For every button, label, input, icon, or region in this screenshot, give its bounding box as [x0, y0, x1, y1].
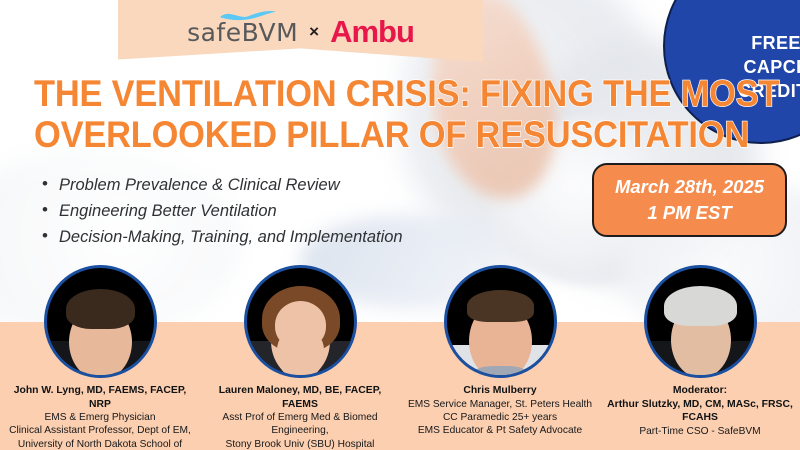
wave-icon: [219, 10, 277, 21]
speaker-bio-4: Moderator: Arthur Slutzky, MD, CM, MASc,…: [600, 384, 800, 438]
speaker-detail-1-3: University of North Dakota School of: [4, 438, 196, 450]
speaker-card-3: Chris Mulberry EMS Service Manager, St. …: [400, 265, 600, 450]
speaker-name-3: Chris Mulberry: [404, 384, 596, 398]
speaker-bio-2: Lauren Maloney, MD, BE, FACEP, FAEMS Ass…: [200, 384, 400, 450]
photo-hair: [66, 289, 135, 329]
topic-list: Problem Prevalence & Clinical Review Eng…: [40, 172, 470, 250]
topic-item-2: Engineering Better Ventilation: [40, 198, 470, 224]
speaker-detail-4-1: Part-Time CSO - SafeBVM: [604, 425, 796, 438]
moderator-role-label: Moderator:: [604, 384, 796, 398]
speaker-name-4: Arthur Slutzky, MD, CM, MASc, FRSC,: [604, 398, 796, 412]
event-date: March 28th, 2025: [615, 174, 764, 200]
speaker-photo-arthur-slutzky: [644, 265, 757, 378]
speaker-bio-1: John W. Lyng, MD, FAEMS, FACEP, NRP EMS …: [0, 384, 200, 450]
speaker-card-1: John W. Lyng, MD, FAEMS, FACEP, NRP EMS …: [0, 265, 200, 450]
topic-item-3: Decision-Making, Training, and Implement…: [40, 224, 470, 250]
speaker-bio-3: Chris Mulberry EMS Service Manager, St. …: [400, 384, 600, 438]
photo-hair: [664, 286, 737, 326]
photo-stethoscope: [473, 366, 528, 378]
topic-item-1: Problem Prevalence & Clinical Review: [40, 172, 470, 198]
title-line-1: THE VENTILATION CRISIS: FIXING THE MOST: [34, 73, 592, 114]
photo-hair: [467, 290, 534, 322]
capce-line-1: FREE: [721, 32, 800, 56]
safebvm-logo: safeBVM: [187, 11, 298, 45]
speaker-photo-john-lyng: [44, 265, 157, 378]
ambu-logo: Ambu: [330, 10, 414, 47]
speakers-row: John W. Lyng, MD, FAEMS, FACEP, NRP EMS …: [0, 265, 800, 450]
date-time-badge: March 28th, 2025 1 PM EST: [592, 163, 787, 237]
title-line-2: OVERLOOKED PILLAR OF RESUSCITATION: [34, 114, 592, 155]
speaker-detail-3-1: EMS Service Manager, St. Peters Health: [404, 398, 596, 411]
webinar-poster: safeBVM × Ambu FREE CAPCE CREDIT! THE VE…: [0, 0, 800, 450]
speaker-detail-1-2: Clinical Assistant Professor, Dept of EM…: [4, 424, 196, 437]
webinar-title: THE VENTILATION CRISIS: FIXING THE MOST …: [34, 73, 592, 156]
speaker-name-1: John W. Lyng, MD, FAEMS, FACEP, NRP: [4, 384, 196, 411]
speaker-card-2: Lauren Maloney, MD, BE, FACEP, FAEMS Ass…: [200, 265, 400, 450]
event-time: 1 PM EST: [647, 200, 731, 226]
speaker-detail-2-2: Stony Brook Univ (SBU) Hospital: [204, 438, 396, 450]
speaker-name-4-cont: FCAHS: [604, 411, 796, 425]
speaker-name-2: Lauren Maloney, MD, BE, FACEP, FAEMS: [204, 384, 396, 411]
speaker-detail-3-3: EMS Educator & Pt Safety Advocate: [404, 424, 596, 437]
speaker-photo-lauren-maloney: [244, 265, 357, 378]
logo-row: safeBVM × Ambu: [118, 2, 483, 54]
logo-separator-x: ×: [309, 15, 319, 42]
speaker-detail-1-1: EMS & Emerg Physician: [4, 411, 196, 424]
photo-chin: [277, 328, 324, 378]
speaker-detail-2-1: Asst Prof of Emerg Med & Biomed Engineer…: [204, 411, 396, 438]
speaker-card-4: Moderator: Arthur Slutzky, MD, CM, MASc,…: [600, 265, 800, 450]
speaker-photo-chris-mulberry: [444, 265, 557, 378]
speaker-detail-3-2: CC Paramedic 25+ years: [404, 411, 596, 424]
